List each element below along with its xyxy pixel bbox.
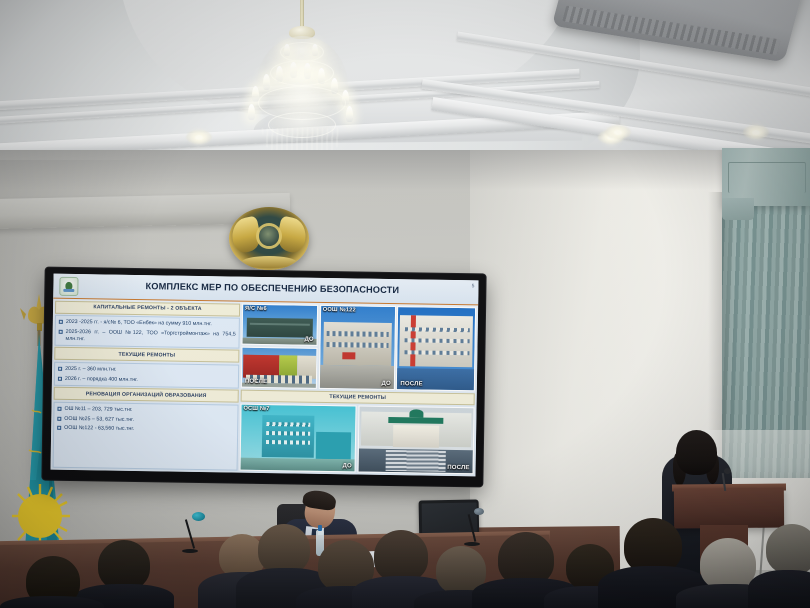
list-item-label: 2026 г. – порядка 400 млн.тнг.: [65, 375, 235, 384]
photo-kindergarten6-after: ПОСЛЕ: [241, 346, 318, 388]
checkbox-icon: [58, 376, 62, 380]
presentation-screen[interactable]: КОМПЛЕКС МЕР ПО ОБЕСПЕЧЕНИЮ БЕЗОПАСНОСТИ…: [42, 268, 485, 487]
table-microphone: [180, 512, 210, 554]
audience-shoulders: [748, 570, 810, 608]
kazakhstan-state-emblem-icon: [229, 207, 309, 270]
section-heading-capital-repairs: КАПИТАЛЬНЫЕ РЕМОНТЫ - 2 ОБЪЕКТА: [55, 301, 240, 317]
list-item-label: 2025-2026 гг. – ООШ №122, ТОО «Торгстрой…: [66, 329, 236, 345]
audience-head: [374, 530, 428, 582]
list-item-label: ООШ №25 – 53, 627 тыс.тнг.: [64, 415, 234, 424]
photo-school7-before: ОСШ №7 ДО: [240, 403, 357, 472]
table-microphone: [464, 508, 490, 548]
checkbox-icon: [59, 320, 63, 324]
list-item: ООШ №122 - 63,560 тыс.тнг.: [57, 425, 234, 434]
wall-top-shadow: [0, 150, 810, 190]
window-curtain: [722, 148, 810, 478]
ceiling-downlight: [605, 125, 631, 139]
photo-label: ОСШ №7: [243, 405, 269, 412]
list-item-label: ООШ №122 - 63,560 тыс.тнг.: [64, 425, 234, 434]
list-item-label: 2023 -2025 гг. - я/с№ 6, ТОО «Енбек» на …: [66, 319, 236, 328]
checkbox-icon: [58, 366, 62, 370]
speaker-hair-top: [676, 430, 717, 475]
section-heading-renovation: РЕНОВАЦИЯ ОРГАНИЗАЦИЙ ОБРАЗОВАНИЯ: [54, 387, 239, 403]
audience-head: [98, 540, 150, 590]
crystal-chandelier: [232, 0, 372, 175]
list-item: 2025-2026 гг. – ООШ №122, ТОО «Торгстрой…: [59, 329, 236, 345]
photo-state-label: ПОСЛЕ: [400, 381, 422, 389]
ceiling-downlight: [743, 125, 769, 139]
photo-school7-after: ПОСЛЕ: [357, 405, 474, 474]
photo-state-label: ПОСЛЕ: [447, 465, 469, 473]
slide-text-column: КАПИТАЛЬНЫЕ РЕМОНТЫ - 2 ОБЪЕКТА 2023 -20…: [53, 301, 241, 471]
photo-state-label: ПОСЛЕ: [245, 378, 267, 386]
slide-number: 5: [472, 283, 475, 289]
audience-head: [700, 538, 756, 590]
list-item: 2025 г. – 360 млн.тнг.: [58, 365, 235, 374]
list-item: 2026 г. – порядка 400 млн.тнг.: [58, 375, 235, 384]
speaker-podium: [674, 488, 784, 529]
photo-label: Я/С №6: [245, 306, 267, 313]
slide-photo-column: Я/С №6 ДО ПОСЛЕ: [240, 304, 477, 475]
photo-state-label: ДО: [381, 381, 390, 388]
list-item: ООШ №25 – 53, 627 тыс.тнг.: [57, 415, 234, 424]
podium-microphone: [716, 468, 740, 492]
audience-head: [766, 524, 810, 574]
section-body-renovation: ОШ №11 – 203, 729 тыс.тнг. ООШ №25 – 53,…: [53, 401, 239, 470]
audience-head: [258, 524, 310, 574]
list-item: ОШ №11 – 203, 729 тыс.тнг.: [57, 405, 234, 414]
checkbox-icon: [57, 416, 61, 420]
slide-title: КОМПЛЕКС МЕР ПО ОБЕСПЕЧЕНИЮ БЕЗОПАСНОСТИ: [78, 280, 478, 298]
list-item-label: 2025 г. – 360 млн.тнг.: [65, 366, 235, 375]
checkbox-icon: [59, 330, 63, 334]
ceiling-downlight: [186, 130, 212, 144]
section-body-current-repairs: 2025 г. – 360 млн.тнг. 2026 г. – порядка…: [54, 361, 239, 388]
list-item-label: ОШ №11 – 203, 729 тыс.тнг.: [64, 406, 234, 415]
photo-school122-after: ПОСЛЕ: [396, 306, 476, 391]
photo-kindergarten6-before: Я/С №6 ДО: [242, 304, 319, 346]
audience-shoulders: [0, 596, 104, 608]
conference-hall-photo: КОМПЛЕКС МЕР ПО ОБЕСПЕЧЕНИЮ БЕЗОПАСНОСТИ…: [0, 0, 810, 608]
photo-label: ООШ №122: [323, 307, 356, 314]
list-item: 2023 -2025 гг. - я/с№ 6, ТОО «Енбек» на …: [59, 319, 236, 328]
photo-state-label: ДО: [304, 337, 313, 344]
slide-content: КОМПЛЕКС МЕР ПО ОБЕСПЕЧЕНИЮ БЕЗОПАСНОСТИ…: [51, 274, 479, 477]
checkbox-icon: [57, 406, 61, 410]
photo-state-label: ДО: [342, 463, 351, 470]
checkbox-icon: [57, 426, 61, 430]
photo-school122-before: ООШ №122 ДО: [319, 305, 397, 390]
section-heading-current-repairs: ТЕКУЩИЕ РЕМОНТЫ: [54, 347, 239, 363]
department-logo-icon: [59, 276, 78, 295]
section-body-capital-repairs: 2023 -2025 гг. - я/с№ 6, ТОО «Енбек» на …: [54, 315, 239, 349]
